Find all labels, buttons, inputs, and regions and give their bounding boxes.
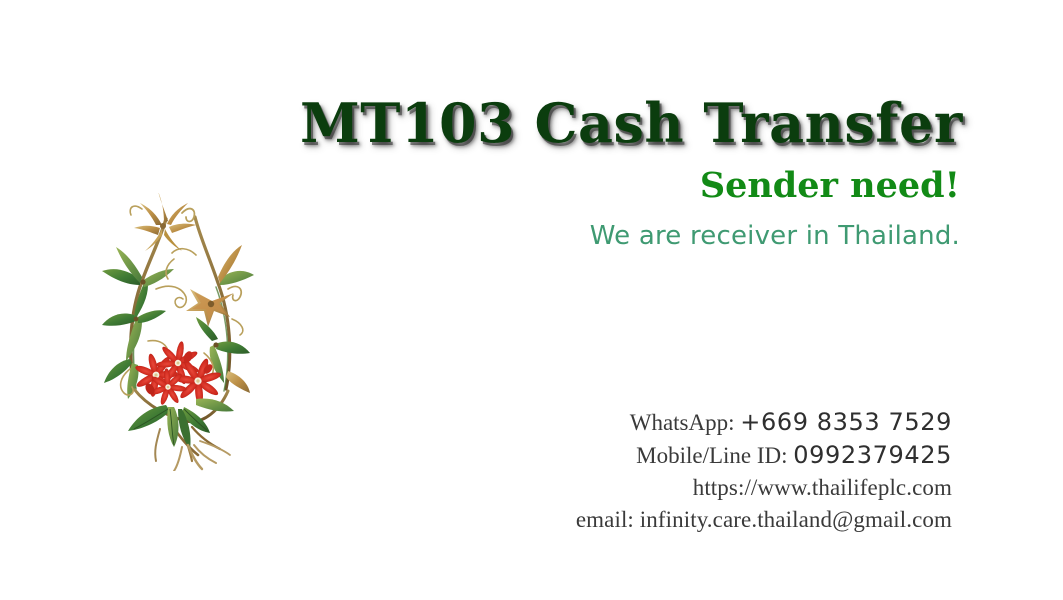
website-link[interactable]: https://www.thailifeplc.com (693, 475, 952, 500)
contact-line-whatsapp: WhatsApp: +669 8353 7529 (576, 406, 952, 439)
whatsapp-label: WhatsApp: (630, 410, 735, 435)
mobile-label: Mobile/Line ID: (636, 443, 787, 468)
contact-line-website: https://www.thailifeplc.com (576, 472, 952, 504)
whatsapp-number[interactable]: +669 8353 7529 (740, 408, 952, 436)
contact-line-email: email: infinity.care.thailand@gmail.com (576, 504, 952, 536)
page-title: MT103 Cash Transfer (300, 96, 960, 151)
contact-line-mobile: Mobile/Line ID: 0992379425 (576, 439, 952, 472)
headline-block: MT103 Cash Transfer Sender need! We are … (300, 96, 960, 250)
mobile-number[interactable]: 0992379425 (793, 441, 952, 469)
email-address[interactable]: infinity.care.thailand@gmail.com (640, 507, 952, 532)
email-label: email: (576, 507, 634, 532)
poster-canvas: MT103 Cash Transfer Sender need! We are … (0, 0, 1063, 600)
floral-vine-wreath-illustration (100, 193, 260, 471)
tagline: We are receiver in Thailand. (300, 222, 960, 251)
contact-details: WhatsApp: +669 8353 7529 Mobile/Line ID:… (576, 406, 952, 536)
subtitle: Sender need! (300, 167, 960, 206)
